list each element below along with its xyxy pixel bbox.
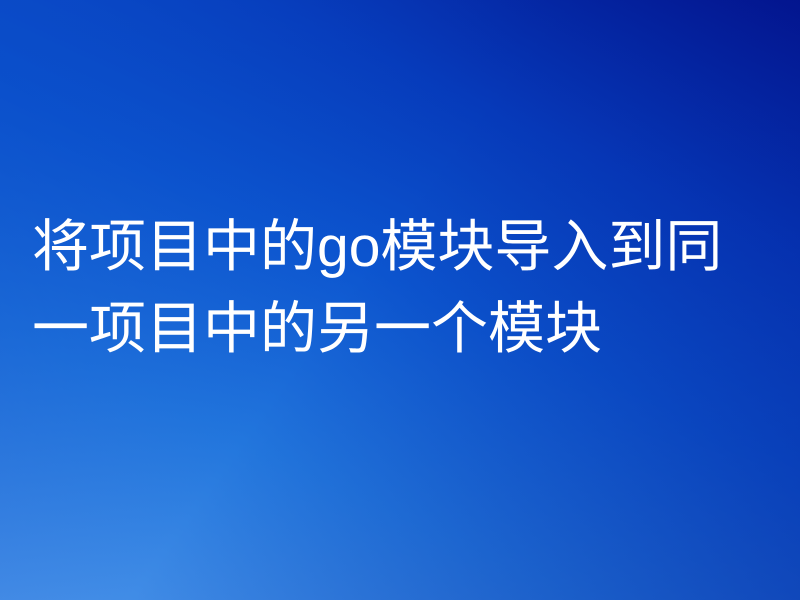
banner-card: 将项目中的go模块导入到同 一项目中的另一个模块 xyxy=(0,0,800,600)
banner-title-line-2: 一项目中的另一个模块 xyxy=(32,288,780,370)
banner-title: 将项目中的go模块导入到同 一项目中的另一个模块 xyxy=(32,206,780,370)
banner-title-line-1: 将项目中的go模块导入到同 xyxy=(32,206,780,288)
